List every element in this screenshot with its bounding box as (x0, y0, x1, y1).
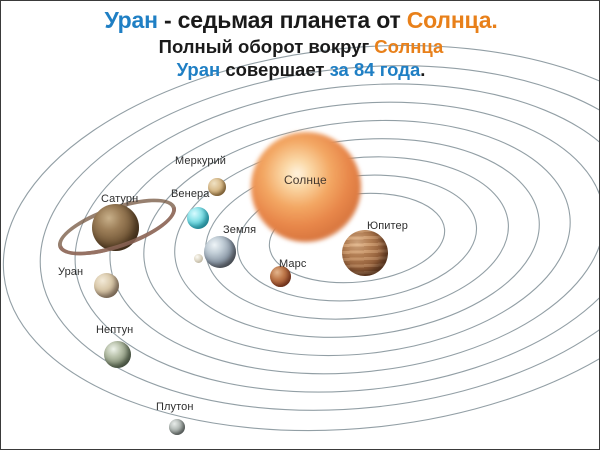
slide-canvas: Уран - седьмая планета от Солнца. Полный… (0, 0, 600, 450)
planet-pluto (169, 419, 185, 435)
solar-system-diagram: Солнце Меркурий Венера Земля Марс Юпитер… (1, 1, 600, 450)
sun-body (251, 132, 361, 242)
moon (194, 254, 203, 263)
planet-uranus (94, 273, 119, 298)
planet-mars (270, 266, 291, 287)
planet-mercury (208, 178, 226, 196)
planet-earth (204, 236, 236, 268)
planet-neptune (104, 341, 131, 368)
planet-venus (187, 207, 209, 229)
planet-jupiter (342, 230, 388, 276)
